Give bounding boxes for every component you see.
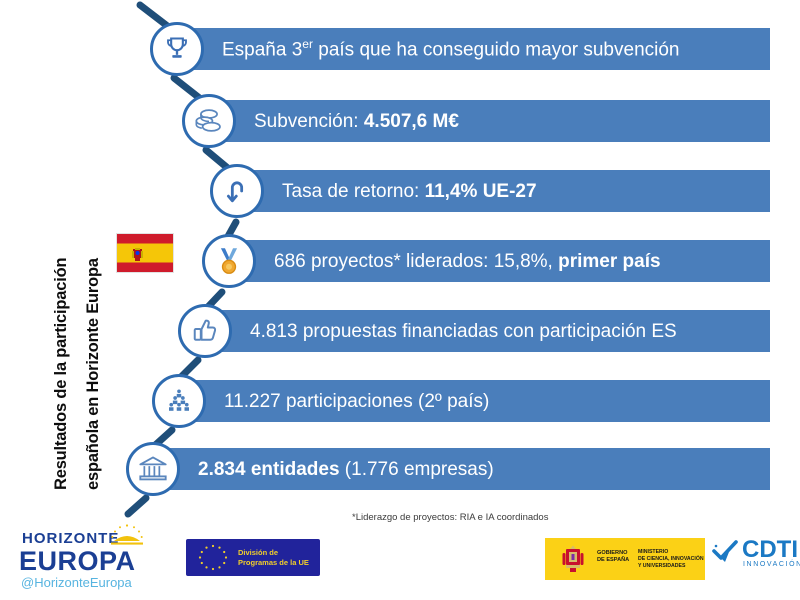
- coins-icon: [194, 107, 224, 135]
- cdti-subtitle: INNOVACIÓN: [743, 561, 800, 568]
- people-pyramid-icon: [165, 387, 193, 415]
- bank-building-icon: [138, 455, 168, 483]
- trophy-icon: [163, 35, 191, 63]
- eu-programs-badge: División de Programas de la UE: [186, 539, 320, 576]
- he-logo-word-2: EUROPA: [19, 546, 136, 577]
- he-logo-handle: @HorizonteEuropa: [21, 575, 132, 590]
- cdti-logo: CDTI INNOVACIÓN: [712, 534, 796, 580]
- spain-government-crest-icon: [559, 544, 587, 574]
- stat-icon-circle[interactable]: [178, 304, 232, 358]
- stat-icon-circle[interactable]: [152, 374, 206, 428]
- chain-connector: [0, 0, 800, 520]
- sunrise-icon: [106, 522, 148, 548]
- thumbs-up-icon: [191, 317, 219, 345]
- return-arrow-icon: [223, 177, 251, 205]
- stat-icon-circle[interactable]: [182, 94, 236, 148]
- stat-icon-circle[interactable]: [210, 164, 264, 218]
- eu-badge-line-1: División de: [238, 548, 278, 557]
- gobierno-espana-logo: GOBIERNO DE ESPAÑA MINISTERIO DE CIENCIA…: [545, 538, 705, 580]
- infographic-root: Resultados de la participación española …: [0, 0, 800, 600]
- he-logo-word-1: HORIZONTE: [22, 530, 119, 547]
- eu-badge-line-2: Programas de la UE: [238, 558, 309, 567]
- horizonte-europa-logo: HORIZONTE EUROPA @HorizonteEuropa: [10, 518, 150, 592]
- stat-icon-circle[interactable]: [126, 442, 180, 496]
- stat-icon-circle[interactable]: [150, 22, 204, 76]
- gobierno-label: GOBIERNO DE ESPAÑA: [597, 550, 629, 564]
- ministerio-label: MINISTERIO DE CIENCIA, INNOVACIÓN Y UNIV…: [638, 549, 704, 569]
- cdti-wordmark: CDTI: [742, 536, 798, 564]
- cdti-check-icon: [712, 540, 739, 564]
- stat-icon-circle[interactable]: [202, 234, 256, 288]
- medal-icon: [215, 246, 243, 276]
- eu-stars-icon: [193, 543, 233, 572]
